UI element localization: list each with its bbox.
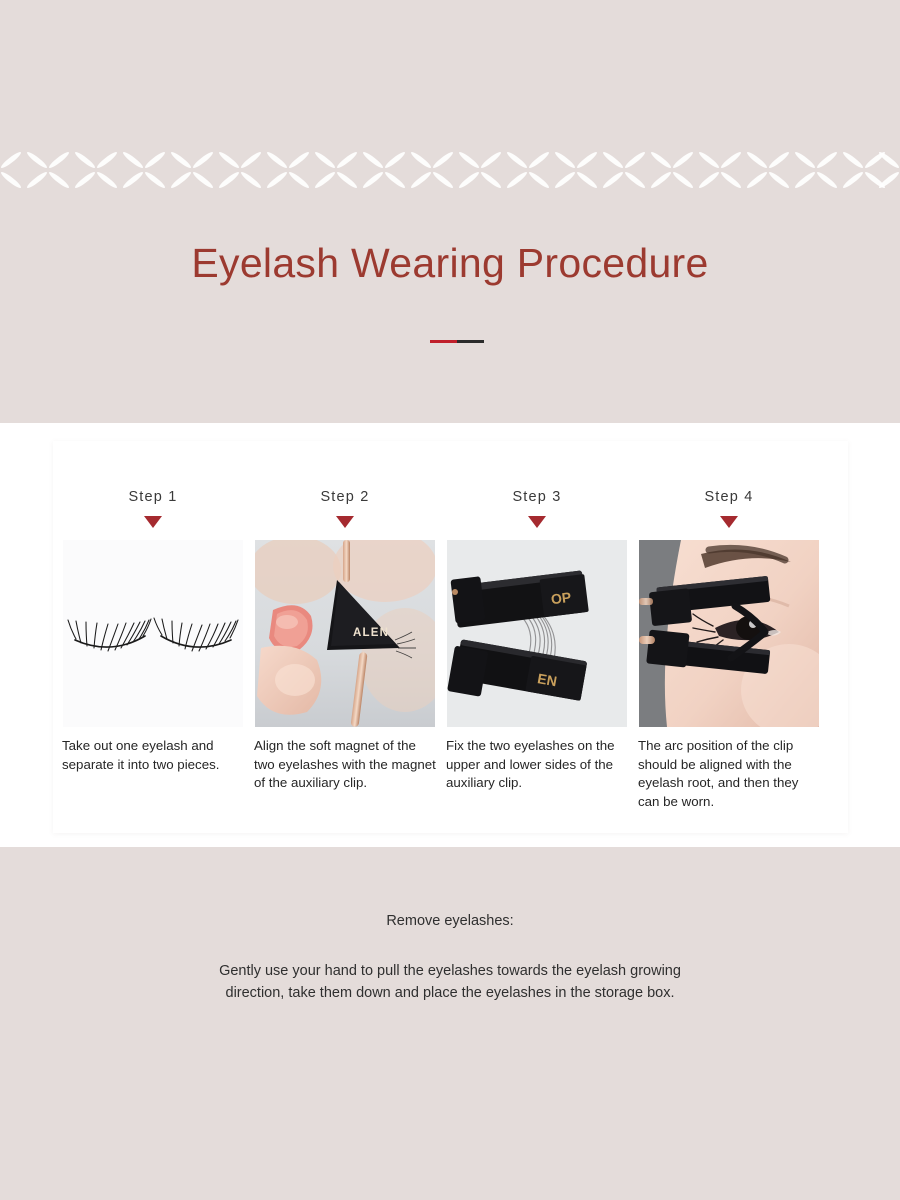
step-label: Step 4: [633, 441, 825, 505]
photo-hand-holding-clip: ALEN: [255, 540, 435, 727]
step-caption: Take out one eyelash and separate it int…: [57, 737, 249, 774]
photo-clip-with-lashes: OP EN: [447, 540, 627, 727]
top-banner: Eyelash Wearing Procedure: [0, 0, 900, 423]
photo-two-eyelash-strips: [63, 540, 243, 727]
remove-eyelashes-body: Gently use your hand to pull the eyelash…: [0, 960, 900, 1004]
step-caption: Fix the two eyelashes on the upper and l…: [441, 737, 633, 793]
step-arrow-down-icon: [720, 516, 738, 528]
step-arrow-down-icon: [528, 516, 546, 528]
page-title: Eyelash Wearing Procedure: [0, 240, 900, 287]
steps-row: Step 1: [53, 441, 848, 833]
divider-segment-dark: [457, 340, 484, 343]
step-item-3: Step 3: [441, 441, 633, 793]
step-caption: Align the soft magnet of the two eyelash…: [249, 737, 441, 793]
step-arrow-down-icon: [336, 516, 354, 528]
step-arrow-down-icon: [144, 516, 162, 528]
step-item-4: Step 4: [633, 441, 825, 811]
remove-eyelashes-heading: Remove eyelashes:: [0, 913, 900, 929]
brand-text-top: OP: [550, 589, 572, 607]
steps-card: Step 1: [53, 441, 848, 833]
x-diamond-pattern-icon: [0, 145, 900, 195]
divider-segment-red: [430, 340, 457, 343]
step-label: Step 3: [441, 441, 633, 505]
brand-text-bottom: EN: [536, 670, 558, 689]
title-divider: [430, 340, 484, 343]
step-item-1: Step 1: [57, 441, 249, 774]
brand-text: ALEN: [353, 627, 389, 639]
footer-body-line-1: Gently use your hand to pull the eyelash…: [0, 960, 900, 982]
photo-applying-to-eye: [639, 540, 819, 727]
step-caption: The arc position of the clip should be a…: [633, 737, 825, 811]
footer-body-line-2: direction, take them down and place the …: [0, 982, 900, 1004]
step-label: Step 1: [57, 441, 249, 505]
step-label: Step 2: [249, 441, 441, 505]
footer-section: Remove eyelashes: Gently use your hand t…: [0, 847, 900, 1200]
step-item-2: Step 2: [249, 441, 441, 793]
steps-section: Step 1: [0, 423, 900, 847]
